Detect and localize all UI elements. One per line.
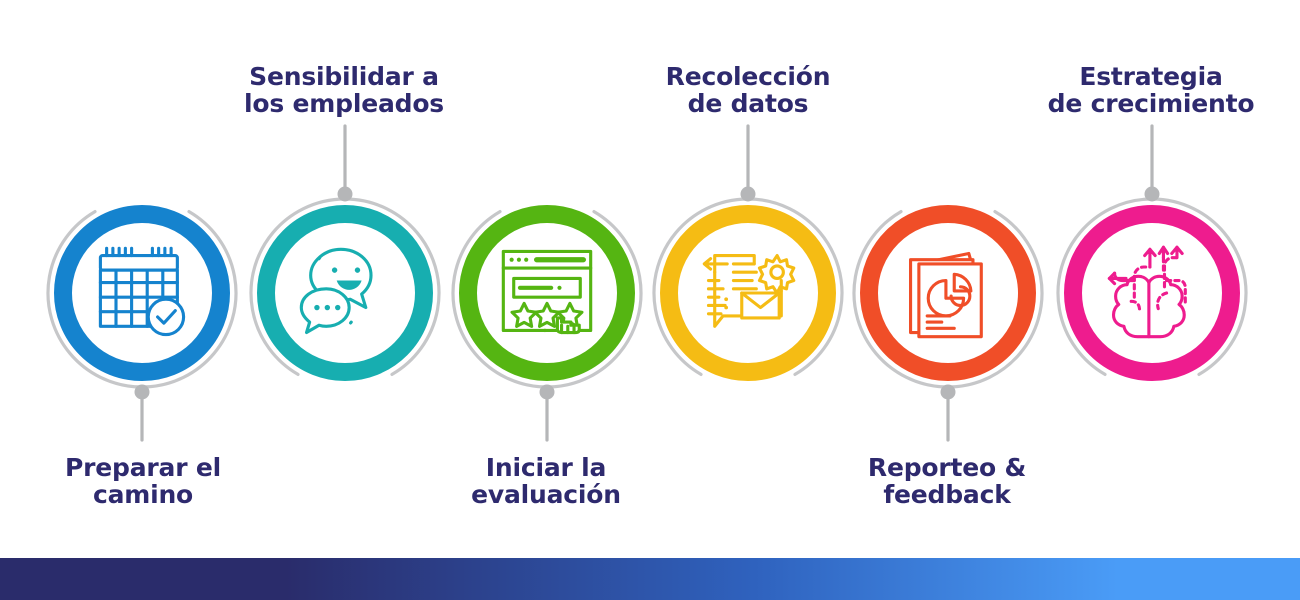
connector-dot-3 xyxy=(540,385,555,400)
brain-growth-arrows-icon xyxy=(1100,241,1204,345)
step-label-1: Preparar el camino xyxy=(0,455,303,508)
connector-dot-1 xyxy=(135,385,150,400)
step-circle-2[interactable] xyxy=(257,205,433,381)
step-label-6: Estrategia de crecimiento xyxy=(991,64,1300,117)
connector-dot-4 xyxy=(741,187,756,202)
calendar-check-icon xyxy=(90,241,194,345)
speech-bubbles-smiley-icon xyxy=(293,241,397,345)
footer-gradient-bar xyxy=(0,558,1300,600)
connector-dot-2 xyxy=(338,187,353,202)
step-label-5: Reporteo & feedback xyxy=(787,455,1107,508)
step-label-2: Sensibilidar a los empleados xyxy=(184,64,504,117)
report-documents-piechart-icon xyxy=(896,241,1000,345)
step-label-3: Iniciar la evaluación xyxy=(386,455,706,508)
connector-dot-5 xyxy=(941,385,956,400)
step-circle-4[interactable] xyxy=(660,205,836,381)
step-label-4: Recolección de datos xyxy=(588,64,908,117)
step-circle-1[interactable] xyxy=(54,205,230,381)
infographic-canvas: Preparar el caminoSensibilidar a los emp… xyxy=(0,0,1300,600)
data-collection-gear-mail-icon xyxy=(696,241,800,345)
step-circle-5[interactable] xyxy=(860,205,1036,381)
step-circle-6[interactable] xyxy=(1064,205,1240,381)
step-circle-3[interactable] xyxy=(459,205,635,381)
connector-dot-6 xyxy=(1145,187,1160,202)
browser-star-rating-icon xyxy=(495,241,599,345)
